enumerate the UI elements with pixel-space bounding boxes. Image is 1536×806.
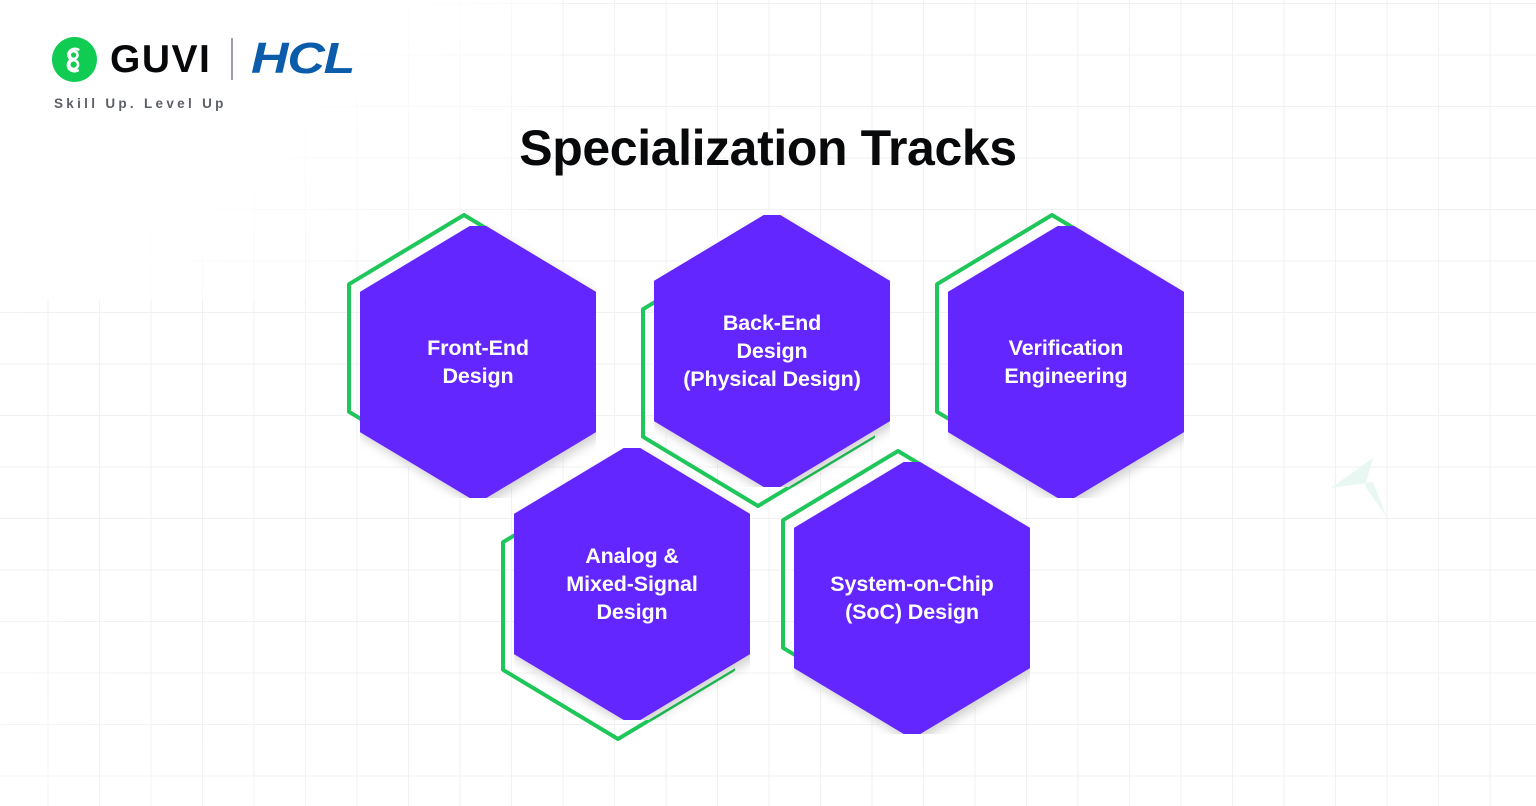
track-label-line: Verification (964, 334, 1169, 362)
track-card-back-end-design[interactable]: Back-EndDesign(Physical Design) (654, 215, 890, 487)
track-label-line: Mixed-Signal (530, 570, 735, 598)
track-label: Analog &Mixed-SignalDesign (530, 542, 735, 626)
track-label-line: System-on-Chip (810, 570, 1015, 598)
track-card-verification-engineering[interactable]: VerificationEngineering (948, 226, 1184, 498)
track-label: Front-EndDesign (376, 334, 581, 390)
track-label-line: Analog & (530, 542, 735, 570)
track-hexagon[interactable]: VerificationEngineering (948, 226, 1184, 498)
track-label-line: Engineering (964, 362, 1169, 390)
track-label-line: Design (530, 598, 735, 626)
track-card-system-on-chip-design[interactable]: System-on-Chip(SoC) Design (794, 462, 1030, 734)
track-label: VerificationEngineering (964, 334, 1169, 390)
track-label-line: (Physical Design) (670, 365, 875, 393)
track-hexagon[interactable]: Back-EndDesign(Physical Design) (654, 215, 890, 487)
track-card-analog-mixed-signal-design[interactable]: Analog &Mixed-SignalDesign (514, 448, 750, 720)
track-label-line: Design (670, 337, 875, 365)
track-label-line: (SoC) Design (810, 598, 1015, 626)
track-label-line: Front-End (376, 334, 581, 362)
track-hexagon[interactable]: Analog &Mixed-SignalDesign (514, 448, 750, 720)
specialization-track-diagram: Front-EndDesignBack-EndDesign(Physical D… (0, 0, 1536, 806)
track-label-line: Design (376, 362, 581, 390)
track-label: Back-EndDesign(Physical Design) (670, 309, 875, 393)
track-hexagon[interactable]: System-on-Chip(SoC) Design (794, 462, 1030, 734)
track-label: System-on-Chip(SoC) Design (810, 570, 1015, 626)
track-label-line: Back-End (670, 309, 875, 337)
